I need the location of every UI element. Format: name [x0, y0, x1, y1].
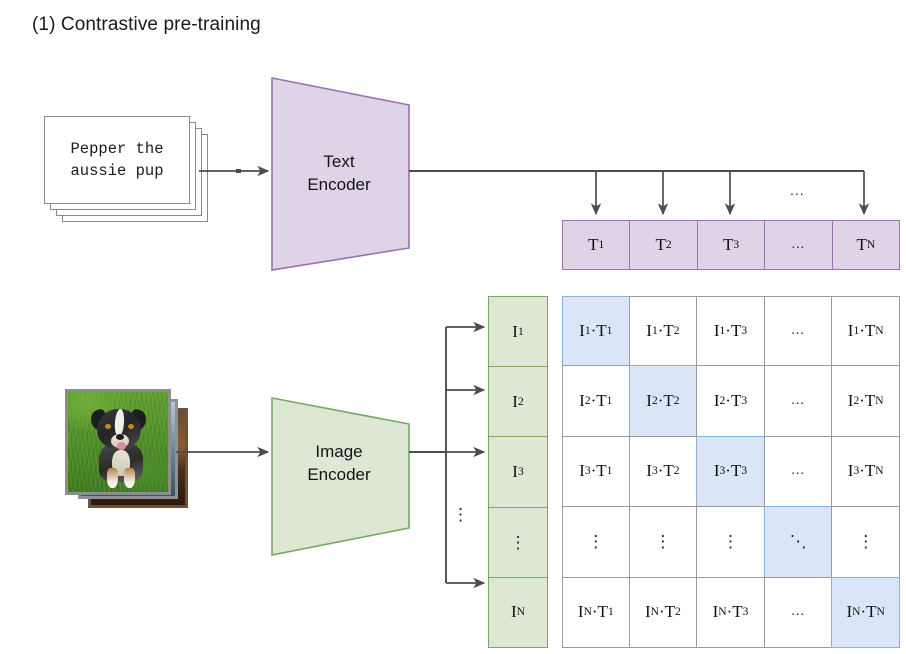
image-embedding-cell: I1	[488, 296, 548, 367]
puppy-nose	[116, 434, 124, 440]
similarity-cell: I3·T1	[562, 436, 630, 507]
puppy-tongue	[117, 442, 126, 450]
text-embedding-cell: T3	[697, 220, 765, 270]
similarity-cell: IN·T2	[629, 577, 698, 648]
similarity-cell: I2·T1	[562, 365, 630, 436]
similarity-cell: ⋮	[562, 506, 630, 577]
caption-text: Pepper the aussie pup	[70, 138, 163, 182]
similarity-cell: I1·T2	[629, 296, 698, 366]
similarity-cell: ⋮	[629, 506, 698, 577]
text-bus-ellipsis: ...	[790, 182, 805, 198]
puppy-leg-left	[107, 468, 118, 488]
similarity-cell: ⋮	[831, 506, 900, 577]
text-embedding-cell: TN	[832, 220, 900, 270]
diagram-canvas: (1) Contrastive pre-training Pepper the …	[0, 0, 906, 654]
image-embedding-cell: IN	[488, 577, 548, 648]
caption-card-front: Pepper the aussie pup	[44, 116, 190, 204]
similarity-cell: ⋱	[764, 506, 833, 577]
image-encoder-label-line1: Image	[274, 440, 404, 463]
image-embedding-cell: I2	[488, 366, 548, 437]
similarity-cell: I3·T2	[629, 436, 698, 507]
image-thumbnail-front-puppy	[65, 389, 171, 495]
similarity-cell: I1·T3	[696, 296, 765, 366]
similarity-cell: I1·T1	[562, 296, 630, 366]
image-embedding-cell: ⋮	[488, 507, 548, 578]
image-embedding-column: I1I2I3⋮IN	[488, 296, 548, 648]
image-encoder-label: Image Encoder	[274, 440, 404, 486]
similarity-cell: I3·TN	[831, 436, 900, 507]
similarity-cell: I2·T2	[629, 365, 698, 436]
text-encoder-label-line1: Text	[274, 150, 404, 173]
similarity-cell: I3·T3	[696, 436, 765, 507]
similarity-cell: ...	[764, 365, 833, 436]
text-embedding-cell: ...	[764, 220, 832, 270]
text-embedding-cell: T2	[629, 220, 697, 270]
text-embedding-row: T1T2T3...TN	[562, 220, 900, 270]
similarity-cell: I2·TN	[831, 365, 900, 436]
similarity-cell: ...	[764, 577, 833, 648]
text-encoder-label-line2: Encoder	[274, 173, 404, 196]
puppy-eye-left	[105, 424, 111, 429]
similarity-cell: I1·TN	[831, 296, 900, 366]
puppy-leg-right	[124, 468, 135, 488]
similarity-cell: IN·TN	[831, 577, 900, 648]
similarity-cell: IN·T1	[562, 577, 630, 648]
similarity-matrix: I1·T1I1·T2I1·T3...I1·TNI2·T1I2·T2I2·T3..…	[562, 296, 900, 648]
puppy-eye-right	[128, 424, 134, 429]
text-encoder-label: Text Encoder	[274, 150, 404, 196]
image-bus-ellipsis: ⋮	[452, 505, 469, 525]
similarity-cell: IN·T3	[696, 577, 765, 648]
similarity-cell: ...	[764, 436, 833, 507]
image-encoder-label-line2: Encoder	[274, 463, 404, 486]
similarity-cell: I2·T3	[696, 365, 765, 436]
image-embedding-cell: I3	[488, 436, 548, 507]
similarity-cell: ⋮	[696, 506, 765, 577]
text-embedding-cell: T1	[562, 220, 630, 270]
page-title: (1) Contrastive pre-training	[32, 14, 261, 36]
similarity-cell: ...	[764, 296, 833, 366]
